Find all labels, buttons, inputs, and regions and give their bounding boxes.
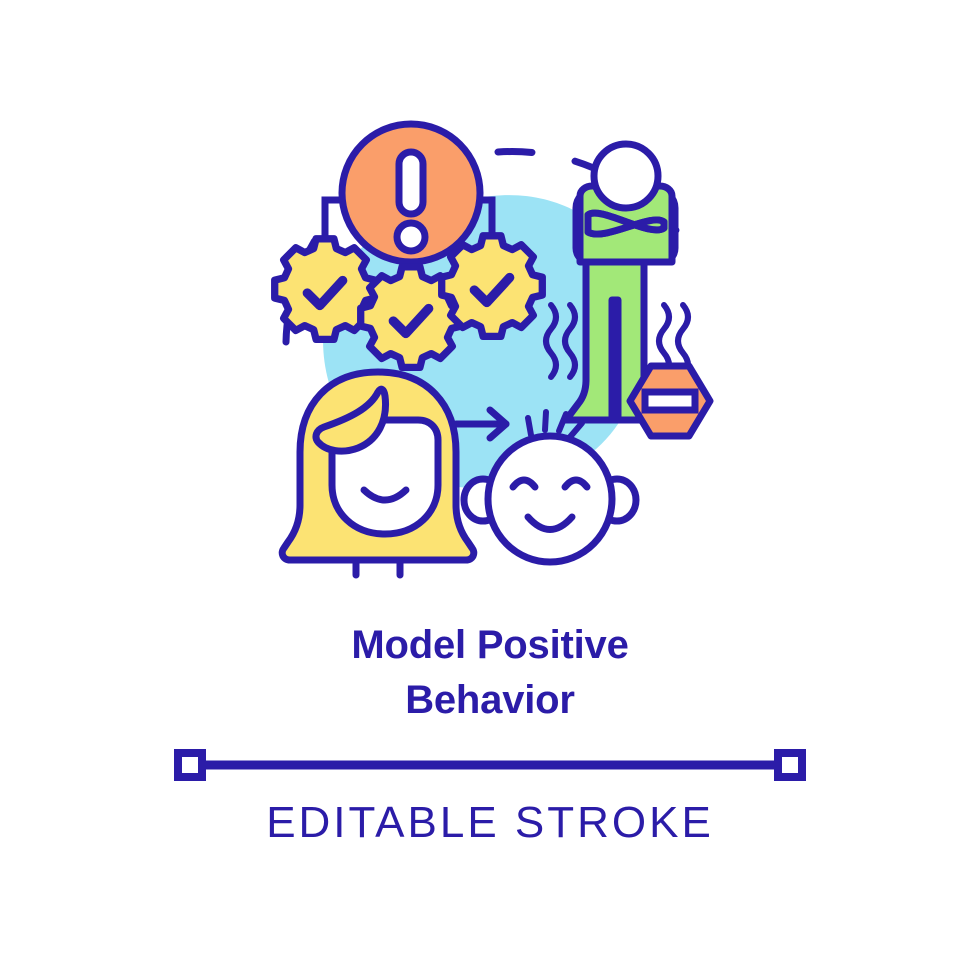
title-line-2: Behavior: [0, 673, 980, 728]
prohibition-hexagon-icon: [630, 366, 710, 436]
editable-stroke-footer: EDITABLE STROKE: [0, 740, 980, 848]
stroke-handle-left[interactable]: [178, 753, 202, 777]
stroke-handle-right[interactable]: [778, 753, 802, 777]
illustration-artwork: [0, 0, 980, 620]
concept-title: Model Positive Behavior: [0, 618, 980, 728]
mother-avatar: [282, 372, 474, 575]
gear-check-icon-right: [442, 236, 543, 337]
editable-stroke-label: EDITABLE STROKE: [0, 798, 980, 848]
alert-circle-icon: [342, 124, 480, 262]
title-line-1: Model Positive: [0, 618, 980, 673]
stroke-width-rule: [0, 740, 980, 790]
concept-icon-card: Model Positive Behavior EDITABLE STROKE: [0, 0, 980, 980]
